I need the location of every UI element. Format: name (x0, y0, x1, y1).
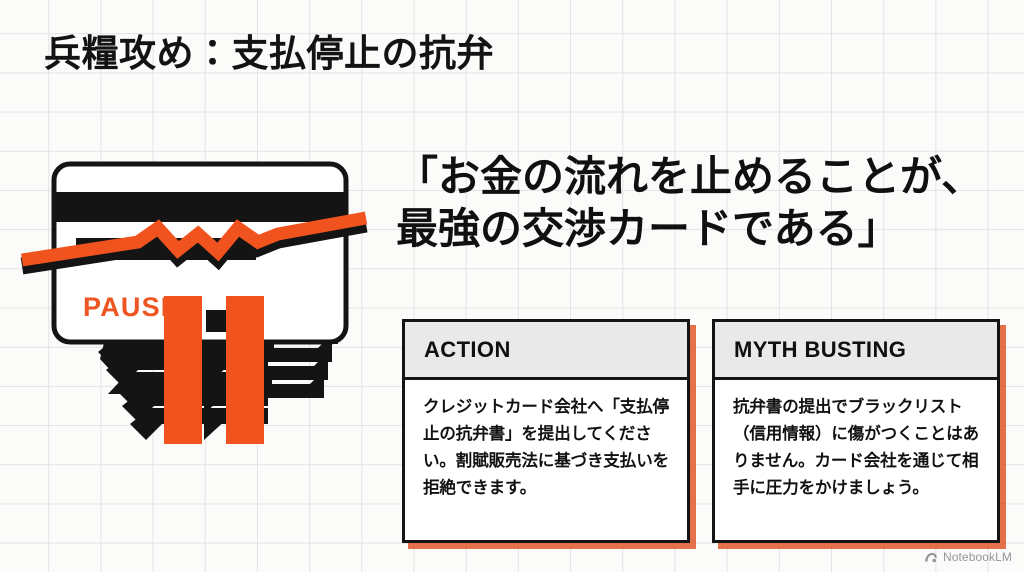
info-card-myth-busting-header: MYTH BUSTING (715, 322, 997, 380)
pause-bar-left (164, 296, 202, 444)
notebooklm-watermark-label: NotebookLM (943, 550, 1012, 564)
info-card-action-title: ACTION (424, 337, 511, 363)
slide-canvas: 兵糧攻め：支払停止の抗弁 (0, 0, 1024, 572)
pull-quote: 「お金の流れを止めることが、 最強の交渉カードである」 (396, 152, 996, 256)
quote-line-2: 最強の交渉カードである」 (396, 204, 996, 256)
info-card-action-header: ACTION (405, 322, 687, 380)
quote-line-1: 「お金の流れを止めることが、 (396, 152, 996, 204)
page-title: 兵糧攻め：支払停止の抗弁 (44, 28, 494, 80)
info-card-action: ACTION クレジットカード会社へ「支払停止の抗弁書」を提出してください。割賦… (402, 319, 690, 543)
info-card-myth-busting-title: MYTH BUSTING (734, 337, 906, 363)
paused-credit-card-illustration: PAUSE (18, 148, 382, 448)
credit-card-pause-graphic: PAUSE (18, 148, 382, 448)
info-card-myth-busting-body: 抗弁書の提出でブラックリスト（信用情報）に傷がつくことはありません。カード会社を… (715, 380, 997, 512)
info-card-myth-busting: MYTH BUSTING 抗弁書の提出でブラックリスト（信用情報）に傷がつくこと… (712, 319, 1000, 543)
info-card-action-body: クレジットカード会社へ「支払停止の抗弁書」を提出してください。割賦販売法に基づき… (405, 380, 687, 512)
notebooklm-watermark: NotebookLM (924, 550, 1012, 564)
pause-bar-right (226, 296, 264, 444)
notebooklm-icon (924, 550, 938, 564)
magnetic-stripe (54, 192, 346, 222)
